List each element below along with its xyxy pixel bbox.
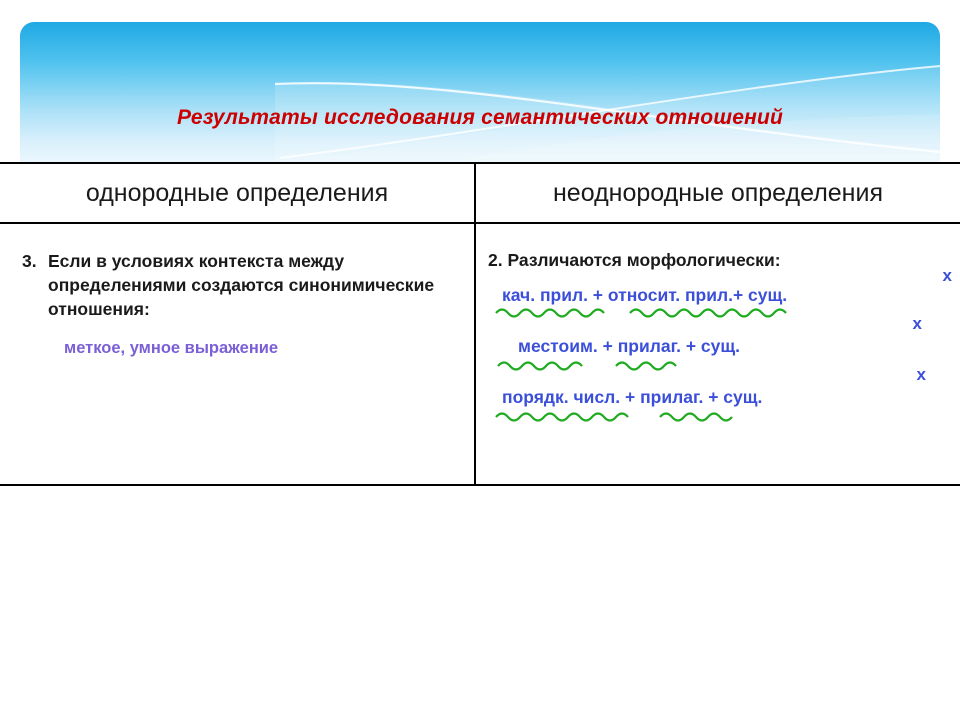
formula-x-marker-2: х xyxy=(913,314,922,334)
left-numbered-item: 3. Если в условиях контекста между опред… xyxy=(22,250,452,321)
right-heading: 2. Различаются морфологически: xyxy=(488,250,950,271)
header-banner: Результаты исследования семантических от… xyxy=(20,22,940,162)
left-item-text: Если в условиях контекста между определе… xyxy=(48,250,452,321)
formula-underline-squiggle-1 xyxy=(494,305,824,319)
formula-row-1: кач. прил. + относит. прил.+ сущ. х xyxy=(502,285,950,306)
formula-text-3: порядк. числ. + прилаг. + сущ. xyxy=(502,387,762,407)
formula-x-marker-3: х xyxy=(917,365,926,385)
left-item-marker: 3. xyxy=(22,250,48,321)
formula-underline-squiggle-3 xyxy=(494,409,814,423)
banner-swoosh-decoration xyxy=(20,22,940,162)
formula-x-marker-1: х xyxy=(943,266,952,286)
page-title: Результаты исследования семантических от… xyxy=(20,106,940,130)
formula-text-2: местоим. + прилаг. + сущ. xyxy=(518,336,740,356)
table-header-cell-homogeneous: однородные определения xyxy=(0,164,474,222)
comparison-table: однородные определения неоднородные опре… xyxy=(0,162,960,486)
table-header-cell-heterogeneous: неоднородные определения xyxy=(476,164,960,222)
formula-text-1: кач. прил. + относит. прил.+ сущ. xyxy=(502,285,787,305)
table-body-row: 3. Если в условиях контекста между опред… xyxy=(0,224,960,486)
table-cell-homogeneous: 3. Если в условиях контекста между опред… xyxy=(0,224,474,358)
formula-row-3: порядк. числ. + прилаг. + сущ. х xyxy=(502,387,950,408)
left-example-phrase: меткое, умное выражение xyxy=(64,339,452,358)
table-cell-heterogeneous: 2. Различаются морфологически: кач. прил… xyxy=(476,224,960,408)
formula-row-2: местоим. + прилаг. + сущ. х xyxy=(518,336,950,357)
table-header-row: однородные определения неоднородные опре… xyxy=(0,164,960,224)
formula-underline-squiggle-2 xyxy=(496,358,796,372)
